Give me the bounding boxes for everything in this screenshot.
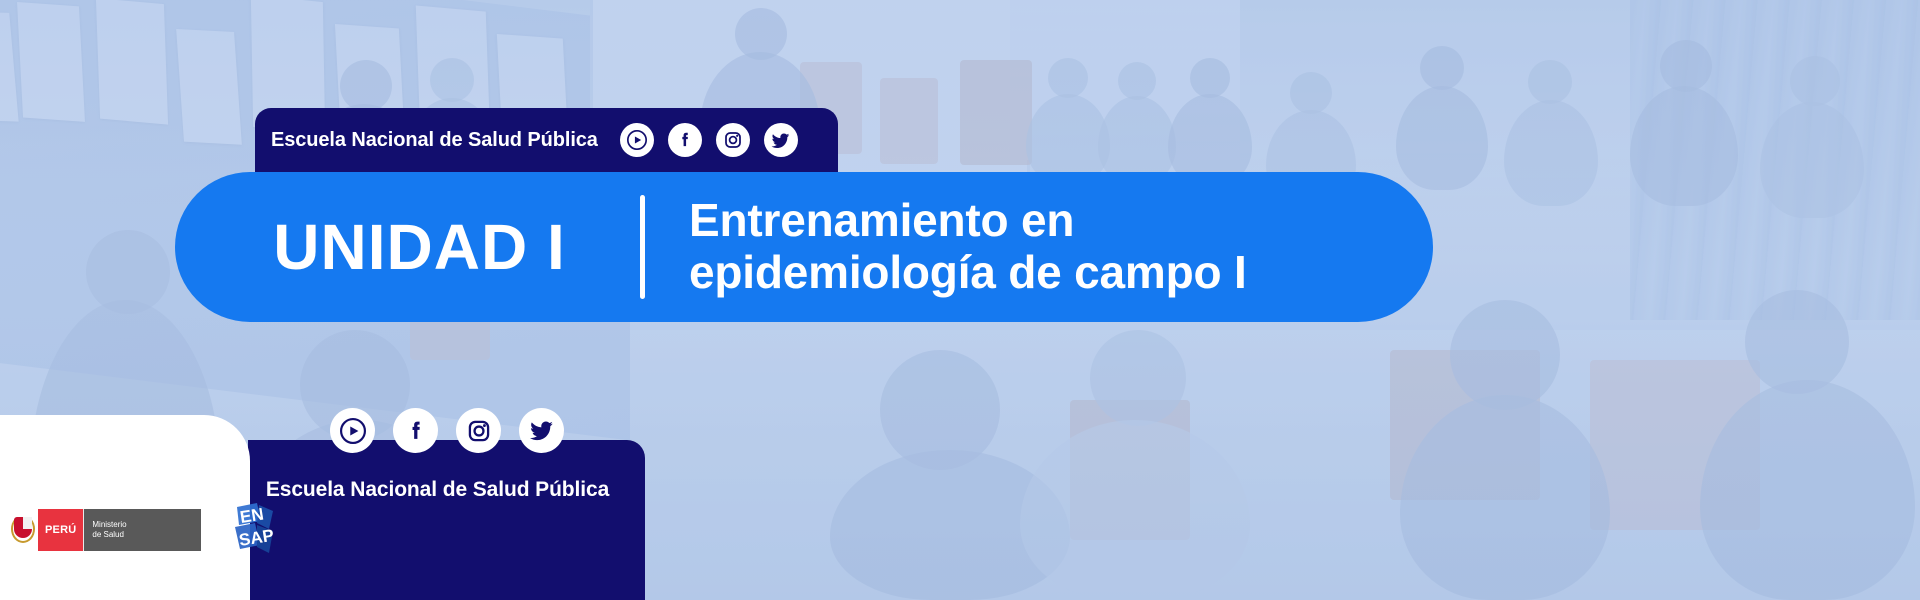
youtube-icon[interactable] — [620, 123, 654, 157]
twitter-icon[interactable] — [764, 123, 798, 157]
instagram-icon[interactable] — [456, 408, 501, 453]
unit-label: UNIDAD I — [175, 210, 640, 284]
footer-school-name: Escuela Nacional de Salud Pública — [248, 478, 645, 502]
youtube-icon[interactable] — [330, 408, 375, 453]
footer-social-links — [330, 408, 564, 453]
ministry-line-2: de Salud — [92, 530, 192, 540]
course-title-pill: UNIDAD I Entrenamiento en epidemiología … — [175, 172, 1433, 322]
ministry-line-1: Ministerio — [92, 520, 192, 530]
ministry-label: Ministerio de Salud — [83, 509, 201, 551]
svg-text:EN: EN — [239, 504, 265, 526]
ensap-logo-icon: EN SAP — [227, 501, 283, 559]
peru-coat-of-arms-icon — [10, 514, 36, 546]
top-school-name: Escuela Nacional de Salud Pública — [271, 129, 598, 152]
peru-label: PERÚ — [38, 509, 83, 551]
course-title: Entrenamiento en epidemiología de campo … — [645, 195, 1247, 299]
logo-panel: PERÚ Ministerio de Salud EN SAP — [0, 415, 250, 600]
top-social-links — [620, 123, 798, 157]
course-title-line-1: Entrenamiento en — [689, 195, 1247, 247]
footer-school-bar: Escuela Nacional de Salud Pública — [248, 440, 645, 600]
course-banner: Escuela Nacional de Salud Pública — [0, 0, 1920, 600]
twitter-icon[interactable] — [519, 408, 564, 453]
instagram-icon[interactable] — [716, 123, 750, 157]
course-title-line-2: epidemiología de campo I — [689, 247, 1247, 299]
top-school-bar: Escuela Nacional de Salud Pública — [255, 108, 838, 172]
facebook-icon[interactable] — [393, 408, 438, 453]
minsa-logo: PERÚ Ministerio de Salud — [10, 509, 201, 551]
facebook-icon[interactable] — [668, 123, 702, 157]
